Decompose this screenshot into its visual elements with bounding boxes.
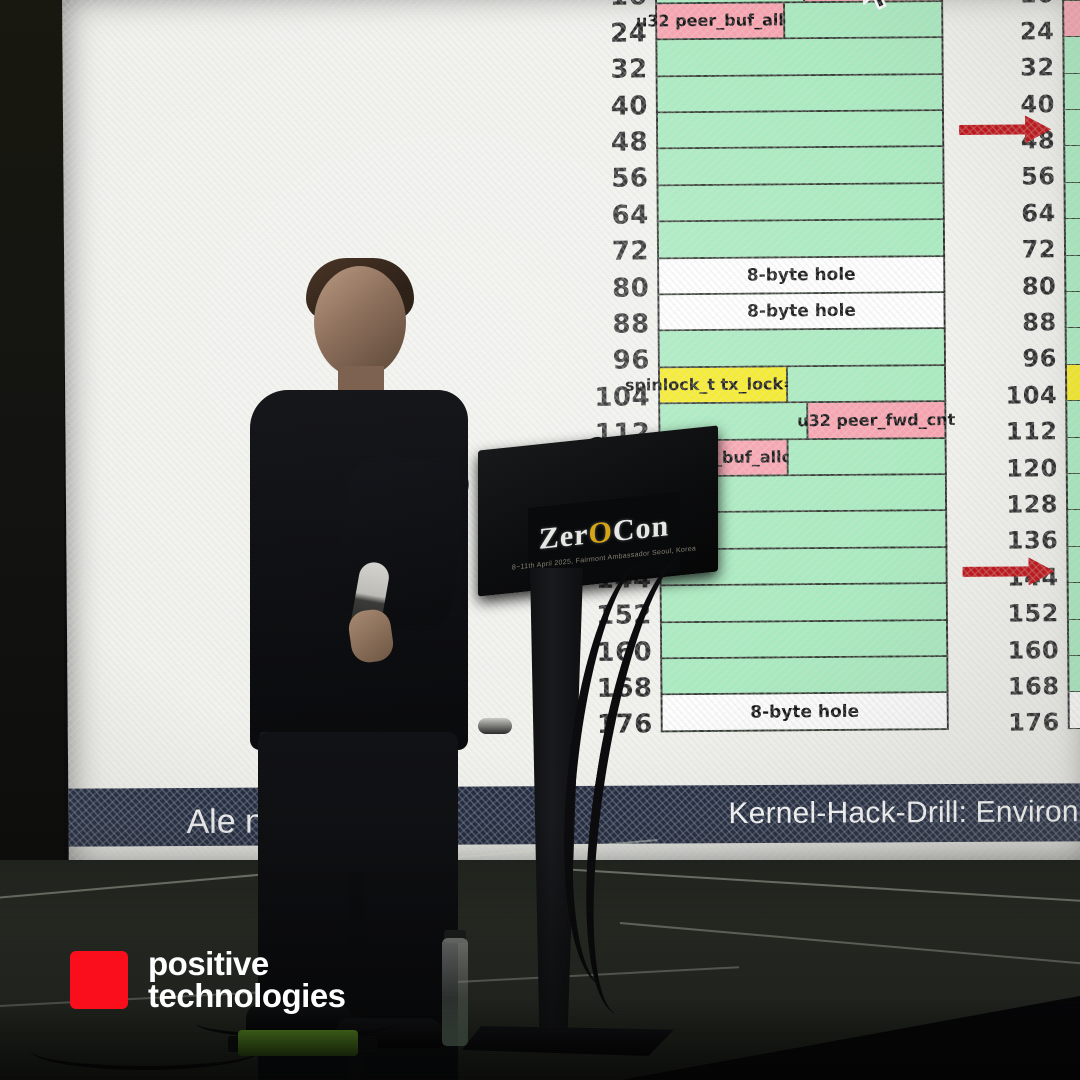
- struct-field-cell: spinlock_t tx_lock==0: [660, 367, 788, 402]
- axis-tick-right: 168: [1008, 672, 1060, 700]
- struct-pad-cell: [658, 147, 942, 184]
- struct-row-mini: [1067, 583, 1080, 620]
- slide-title-text: Kernel-Hack-Drill: Environm: [728, 795, 1080, 831]
- pt-line-2: technologies: [148, 980, 346, 1012]
- struct-row-mini: [1068, 692, 1080, 729]
- struct-row: [656, 147, 944, 186]
- axis-tick-left: 88: [612, 309, 649, 339]
- pt-wordmark: positive technologies: [148, 948, 346, 1011]
- axis-tick-left: 64: [611, 200, 648, 230]
- speaker-head: [314, 266, 406, 378]
- axis-tick-right: 32: [1020, 53, 1055, 81]
- floor-cable-1: [30, 1030, 260, 1070]
- struct-field-cell: 8-byte hole: [659, 257, 943, 294]
- struct-row-mini: [1065, 365, 1080, 402]
- pt-red-square-icon: [70, 951, 128, 1009]
- wall-left-dark: [0, 0, 64, 880]
- struct-row: [656, 75, 944, 114]
- struct-row-mini: [1066, 547, 1080, 584]
- struct-field-cell: u32 peer_fwd_cnt: [808, 402, 945, 437]
- struct-row-mini: [1063, 73, 1080, 110]
- axis-tick-left: 32: [610, 55, 647, 85]
- zerocon-part-1: Zer: [539, 518, 589, 556]
- podium-base-plate: [462, 1026, 674, 1056]
- zerocon-wordmark: ZerOCon: [539, 511, 669, 555]
- axis-tick-right: 72: [1022, 235, 1057, 263]
- struct-field-cell: u32 peer_buf_alloc: [657, 3, 785, 38]
- struct-field-label: u32 peer_fwd_cnt: [797, 410, 955, 430]
- struct-row-mini: [1064, 183, 1080, 220]
- axis-tick-right: 88: [1022, 308, 1057, 336]
- axis-tick-right: 64: [1021, 199, 1056, 227]
- axis-tick-right: 16: [1020, 0, 1055, 9]
- struct-pad-cell: [658, 75, 942, 112]
- struct-row-mini: [1067, 619, 1080, 656]
- struct-row-mini: [1063, 146, 1080, 183]
- red-arrow-lower: [963, 566, 1055, 567]
- struct-field-label: u32 peer_buf_alloc: [636, 11, 804, 31]
- axis-tick-right: 176: [1008, 709, 1060, 737]
- struct-row-mini: [1066, 437, 1080, 474]
- struct-field-label: 8-byte hole: [747, 265, 856, 286]
- zerocon-o-glyph: O: [588, 515, 612, 551]
- axis-tick-left: 56: [611, 164, 648, 194]
- struct-row-mini: [1066, 510, 1080, 547]
- struct-field-label: 8-byte hole: [750, 701, 859, 722]
- struct-row: 8-byte hole: [657, 293, 945, 332]
- struct-field-cell: 8-byte hole: [659, 293, 943, 330]
- axis-tick-right: 120: [1006, 454, 1058, 482]
- struct-row: 8-byte hole: [657, 257, 945, 296]
- axis-tick-right: 80: [1022, 272, 1057, 300]
- axis-tick-right: 56: [1021, 163, 1056, 191]
- struct-row-mini: [1062, 37, 1080, 74]
- struct-row: spinlock_t tx_lock==0: [658, 366, 946, 405]
- struct-pad-cell: [657, 0, 805, 2]
- axis-tick-right: 104: [1005, 381, 1057, 409]
- axis-tick-left: 16: [610, 0, 647, 12]
- axis-tick-right: 152: [1007, 599, 1059, 627]
- axis-tick-right: 24: [1020, 17, 1055, 45]
- struct-row: u32 peer_buf_alloc: [655, 2, 943, 41]
- pt-line-1: positive: [148, 948, 346, 980]
- struct-pad-cell: [657, 38, 941, 75]
- mouse-pointer-icon: [860, 0, 894, 21]
- struct-row-mini: [1064, 292, 1080, 329]
- zerocon-part-2: Con: [613, 509, 669, 548]
- struct-pad-cell: [658, 111, 942, 148]
- axis-tick-right: 136: [1007, 527, 1059, 555]
- axis-tick-right: 96: [1022, 345, 1057, 373]
- struct-row: [655, 38, 943, 77]
- struct-pad-cell: [659, 220, 943, 257]
- struct-row-mini: [1063, 110, 1080, 147]
- water-bottle: [442, 938, 468, 1046]
- green-floor-pedal: [238, 1030, 358, 1056]
- struct-row-mini: [1065, 401, 1080, 438]
- podium: ZerOCon 8~11th April 2025, Fairmont Amba…: [420, 438, 720, 1058]
- axis-tick-right: 40: [1020, 90, 1055, 118]
- struct-row-mini: [1065, 328, 1080, 365]
- struct-pad-cell: [660, 329, 944, 366]
- struct-row: [656, 111, 944, 150]
- struct-pad-cell: [788, 366, 944, 402]
- axis-tick-right: 128: [1006, 490, 1058, 518]
- positive-technologies-logo: positive technologies: [70, 948, 346, 1011]
- axis-tick-right: 160: [1007, 636, 1059, 664]
- struct-row-mini: [1066, 474, 1080, 511]
- struct-row: [658, 329, 946, 368]
- axis-tick-left: 48: [611, 127, 648, 157]
- struct-row: [657, 184, 945, 223]
- struct-row-mini: [1064, 219, 1080, 256]
- struct-row-mini: [1062, 1, 1080, 38]
- struct-field-label: 8-byte hole: [747, 301, 856, 322]
- struct-pad-cell: [788, 439, 944, 475]
- red-arrow-upper: [959, 124, 1051, 125]
- struct-row-mini: [1067, 656, 1080, 693]
- axis-tick-left: 96: [613, 346, 650, 376]
- struct-row-mini: [1064, 255, 1080, 292]
- axis-tick-left: 40: [611, 91, 648, 121]
- struct-row: [657, 220, 945, 259]
- struct-pad-cell: [659, 184, 943, 221]
- struct-layout-right: [1062, 0, 1080, 796]
- podium-adjust-knob: [478, 718, 512, 734]
- conference-photo: 1624324048566472808896104112120128136144…: [0, 0, 1080, 1080]
- axis-tick-right: 112: [1006, 417, 1058, 445]
- axis-tick-left: 80: [612, 273, 649, 303]
- axis-tick-left: 72: [612, 237, 649, 267]
